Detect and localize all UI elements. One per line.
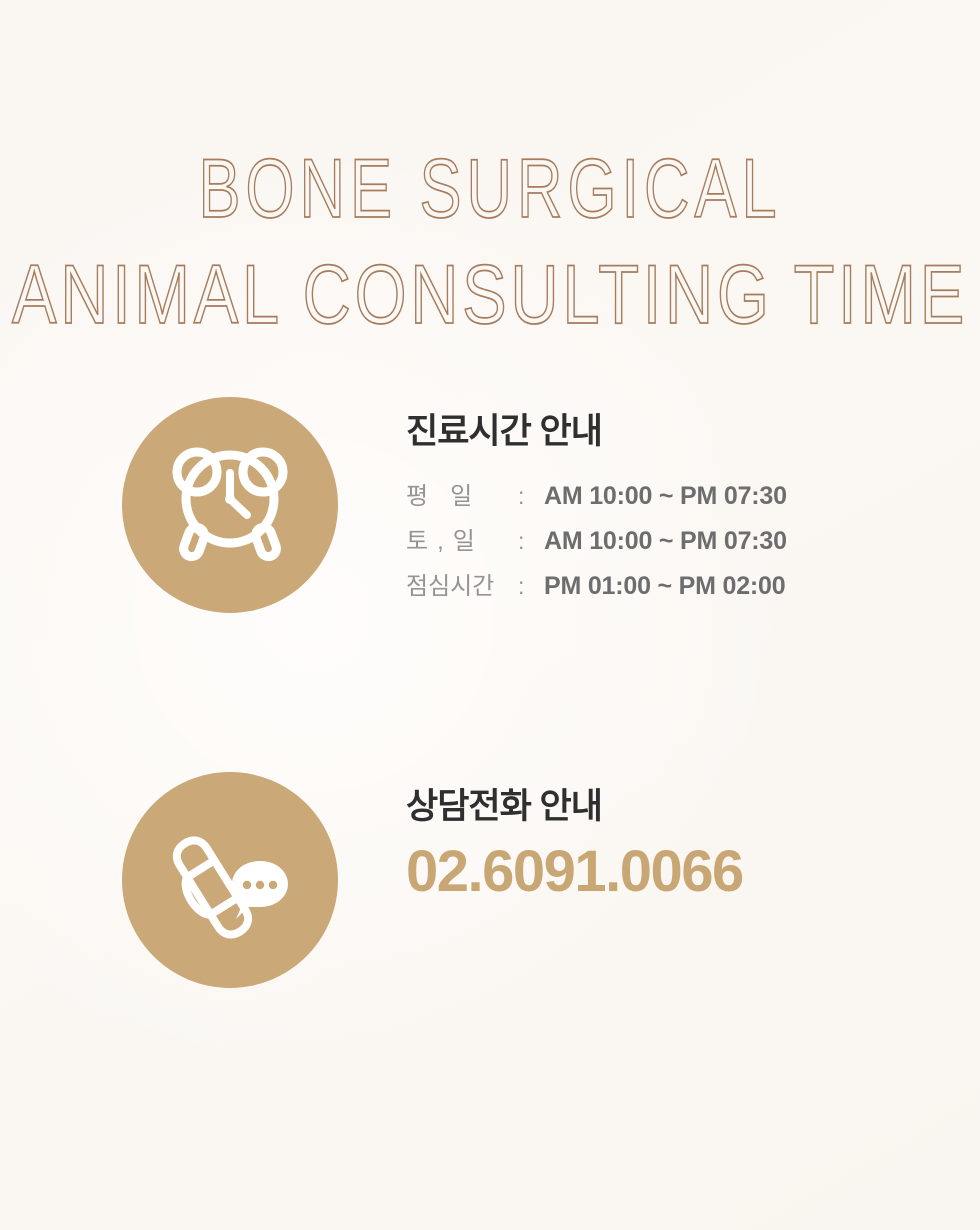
consultation-phone-text: 상담전화 안내 02.6091.0066 [406, 772, 743, 901]
hours-label-comma: , [437, 528, 453, 555]
phone-number[interactable]: 02.6091.0066 [406, 843, 743, 901]
hours-heading: 진료시간 안내 [406, 403, 787, 454]
hours-separator: : [518, 528, 544, 555]
hours-value: PM 01:00 ~ PM 02:00 [544, 572, 785, 601]
title-line-2: ANIMAL CONSULTING TIME [0, 244, 980, 347]
consultation-phone-section: 상담전화 안내 02.6091.0066 [122, 772, 743, 988]
hours-row: 점심시간 : PM 01:00 ~ PM 02:00 [406, 566, 787, 601]
alarm-clock-icon [122, 397, 338, 613]
hours-label: 점심시간 [406, 566, 518, 601]
phone-heading: 상담전화 안내 [406, 778, 743, 829]
hours-label-part-a: 평 [406, 483, 450, 510]
title-line-1: BONE SURGICAL [0, 138, 980, 241]
consulting-hours-text: 진료시간 안내 평일 : AM 10:00 ~ PM 07:30 토,일 : A… [406, 397, 787, 611]
hours-separator: : [518, 483, 544, 510]
phone-chat-icon [122, 772, 338, 988]
hours-label-part-b: 일 [450, 483, 472, 510]
hours-row: 평일 : AM 10:00 ~ PM 07:30 [406, 476, 787, 511]
hours-value: AM 10:00 ~ PM 07:30 [544, 527, 787, 556]
hours-label-part-b: 일 [453, 528, 475, 555]
hours-separator: : [518, 573, 544, 600]
hours-label-part-a: 토 [406, 528, 437, 555]
consulting-hours-section: 진료시간 안내 평일 : AM 10:00 ~ PM 07:30 토,일 : A… [122, 397, 787, 613]
hours-value: AM 10:00 ~ PM 07:30 [544, 482, 787, 511]
poster-background: BONE SURGICAL ANIMAL CONSULTING TIME 진료시… [0, 0, 980, 1230]
page-title: BONE SURGICAL ANIMAL CONSULTING TIME [0, 138, 980, 322]
hours-label: 토,일 [406, 521, 518, 556]
hours-row: 토,일 : AM 10:00 ~ PM 07:30 [406, 521, 787, 556]
hours-label-part-a: 점심시간 [406, 573, 494, 600]
hours-label: 평일 [406, 476, 518, 511]
